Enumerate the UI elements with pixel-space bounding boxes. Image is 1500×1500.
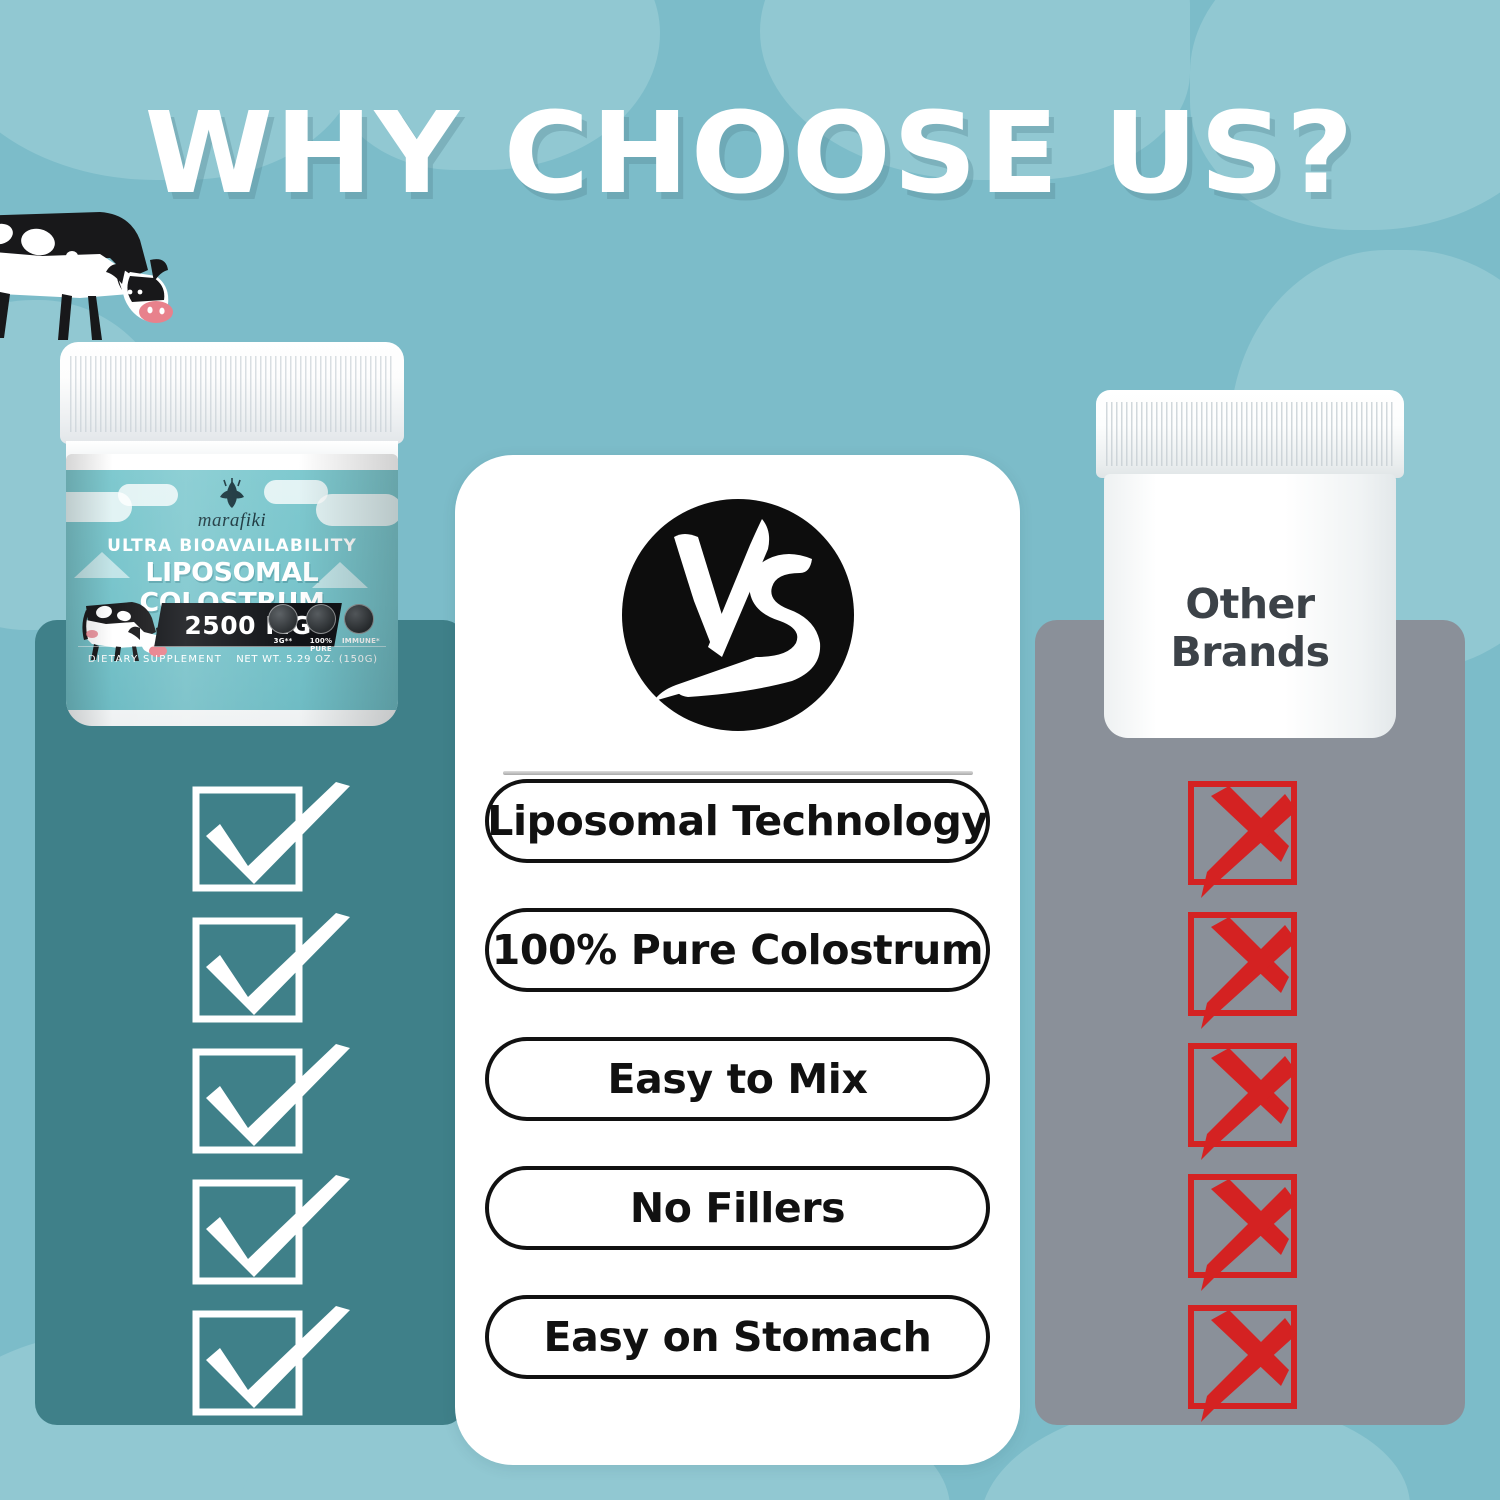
jar-badge: 3G** — [266, 604, 300, 645]
jar-label: marafiki ULTRA BIOAVAILABILITY LIPOSOMAL… — [66, 470, 398, 710]
our-product-checkmarks — [180, 780, 440, 1420]
other-brands-crosses — [1175, 780, 1435, 1420]
other-brands-label: Other Brands — [1104, 580, 1396, 676]
jar-tagline: ULTRA BIOAVAILABILITY — [66, 536, 398, 556]
pill-divider — [503, 771, 973, 775]
jar-badge: IMMUNE* — [342, 604, 376, 645]
label-cloud — [118, 484, 178, 506]
feature-pill: Easy to Mix — [485, 1037, 990, 1121]
red-x-in-box-icon — [1185, 1042, 1365, 1160]
jar-net-weight: NET WT. 5.29 OZ. (150G) — [222, 654, 392, 665]
jar-lid-ribs — [70, 356, 394, 432]
seal-icon — [306, 604, 336, 634]
jar-label-divider — [78, 646, 386, 647]
infographic-canvas: WHY CHOOSE US? — [0, 0, 1500, 1500]
checkmark-in-box-icon — [190, 1304, 370, 1422]
feature-pill: 100% Pure Colostrum — [485, 908, 990, 992]
red-x-in-box-icon — [1185, 911, 1365, 1029]
feature-pill-list: Liposomal Technology 100% Pure Colostrum… — [485, 779, 990, 1379]
checkmark-in-box-icon — [190, 780, 370, 898]
cow-icon — [0, 198, 200, 348]
checkmark-in-box-icon — [190, 911, 370, 1029]
red-x-in-box-icon — [1185, 780, 1365, 898]
red-x-in-box-icon — [1185, 1173, 1365, 1291]
brand-logo-icon — [215, 478, 249, 510]
feature-pill: Liposomal Technology — [485, 779, 990, 863]
jar-badge-label: IMMUNE* — [342, 637, 376, 645]
feature-pill: No Fillers — [485, 1166, 990, 1250]
competitor-jar-lid-ribs — [1106, 402, 1394, 466]
vs-badge-icon — [616, 497, 860, 737]
our-product-jar: marafiki ULTRA BIOAVAILABILITY LIPOSOMAL… — [52, 342, 412, 732]
checkmark-in-box-icon — [190, 1173, 370, 1291]
jar-badge-label: 100% PURE — [304, 637, 338, 653]
feature-comparison-card: Liposomal Technology 100% Pure Colostrum… — [455, 455, 1020, 1465]
jar-supplement-type: DIETARY SUPPLEMENT — [80, 654, 230, 665]
jar-brand-name: marafiki — [66, 510, 398, 532]
seal-icon — [268, 604, 298, 634]
jar-badge-label: 3G** — [266, 637, 300, 645]
checkmark-in-box-icon — [190, 1042, 370, 1160]
other-brands-jar: Other Brands — [1090, 390, 1410, 740]
seal-icon — [344, 604, 374, 634]
jar-body: marafiki ULTRA BIOAVAILABILITY LIPOSOMAL… — [66, 454, 398, 726]
red-x-in-box-icon — [1185, 1304, 1365, 1422]
feature-pill: Easy on Stomach — [485, 1295, 990, 1379]
page-title: WHY CHOOSE US? — [0, 98, 1500, 210]
